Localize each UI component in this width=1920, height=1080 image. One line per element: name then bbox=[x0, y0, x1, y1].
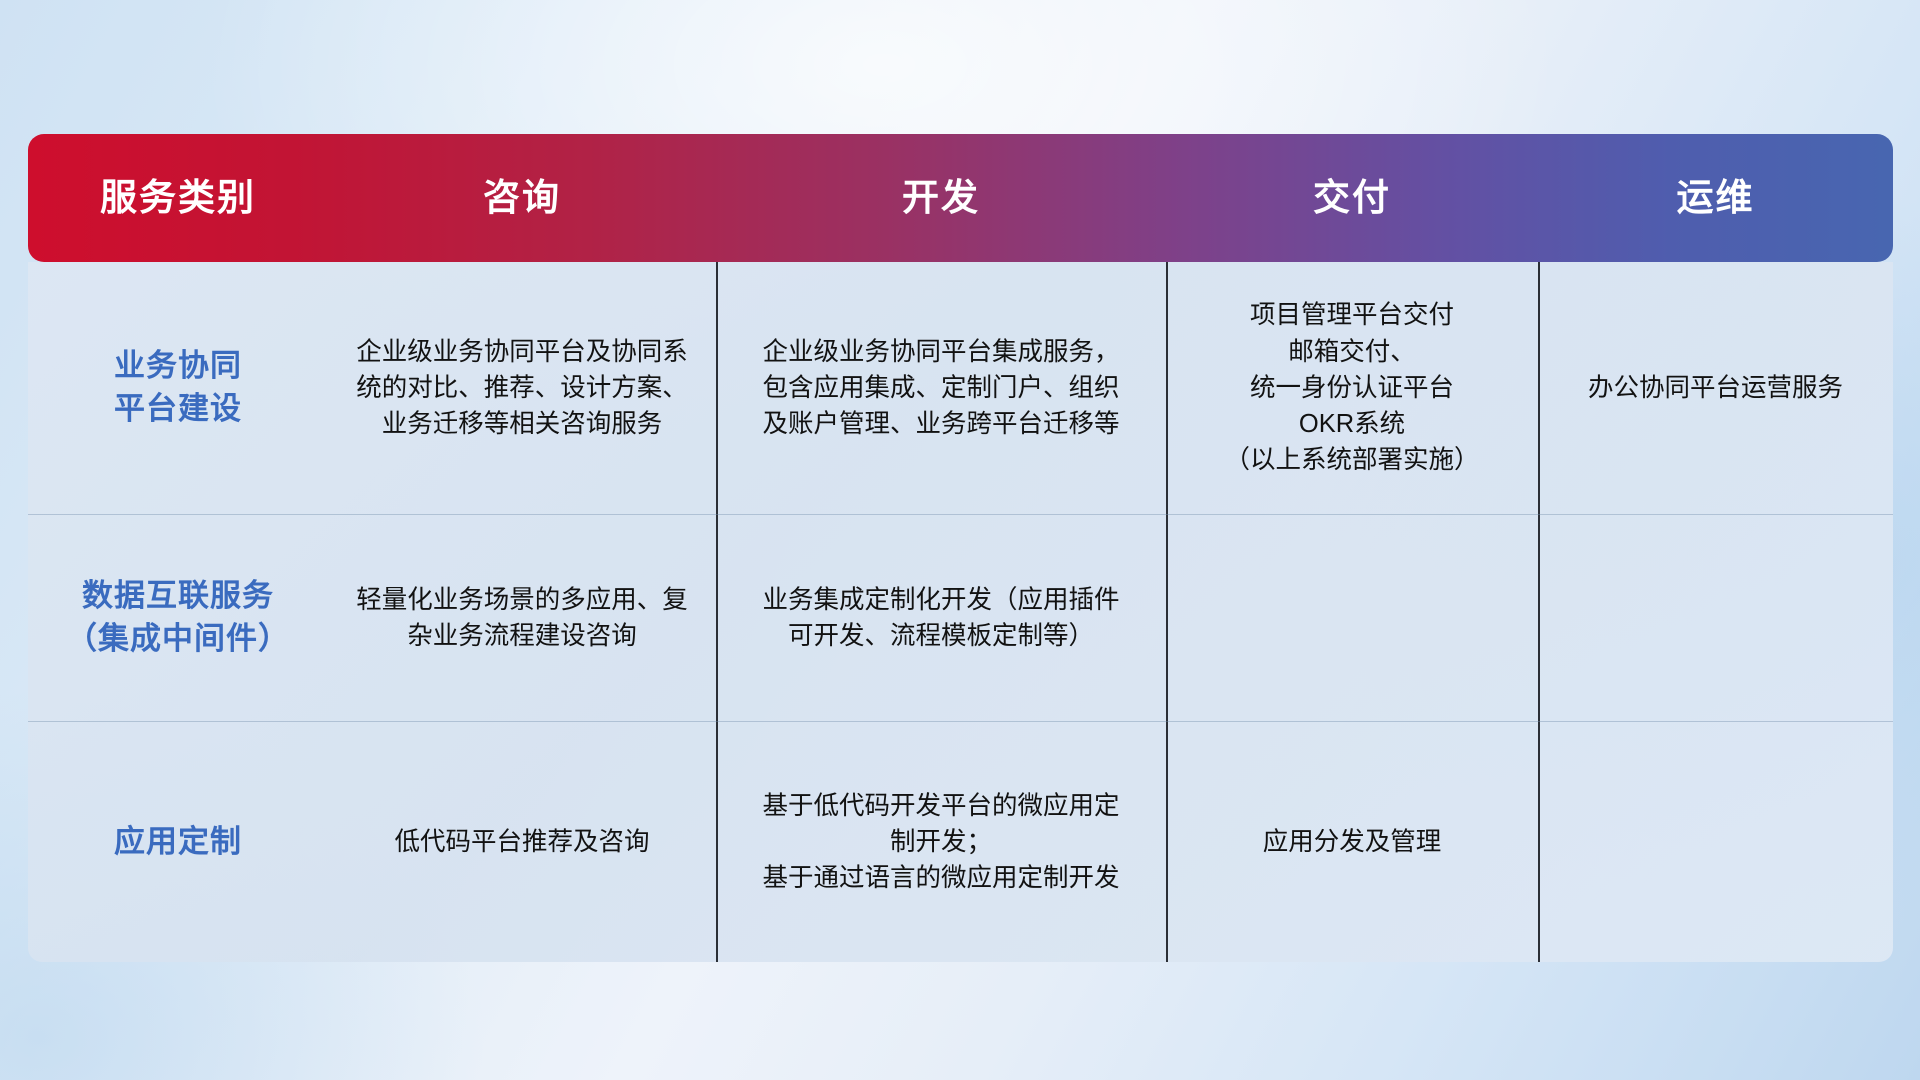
column-header-consulting: 咨询 bbox=[328, 134, 716, 262]
column-header-delivery-label: 交付 bbox=[1313, 178, 1391, 219]
table-body: 业务协同 平台建设 企业级业务协同平台及协同系 统的对比、推荐、设计方案、 业务… bbox=[28, 262, 1893, 962]
table-row: 业务协同 平台建设 企业级业务协同平台及协同系 统的对比、推荐、设计方案、 业务… bbox=[28, 262, 1893, 514]
cell-row1-delivery: 项目管理平台交付 邮箱交付、 统一身份认证平台 OKR系统 （以上系统部署实施） bbox=[1166, 262, 1538, 514]
column-header-delivery: 交付 bbox=[1166, 134, 1538, 262]
column-header-category: 服务类别 bbox=[28, 134, 328, 262]
row-label-app-customization: 应用定制 bbox=[28, 722, 328, 962]
cell-row3-consulting: 低代码平台推荐及咨询 bbox=[328, 722, 716, 962]
column-header-consulting-label: 咨询 bbox=[483, 178, 561, 219]
cell-row3-delivery: 应用分发及管理 bbox=[1166, 722, 1538, 962]
cell-row1-development: 企业级业务协同平台集成服务， 包含应用集成、定制门户、组织 及账户管理、业务跨平… bbox=[716, 262, 1166, 514]
cell-row1-consulting: 企业级业务协同平台及协同系 统的对比、推荐、设计方案、 业务迁移等相关咨询服务 bbox=[328, 262, 716, 514]
cell-row3-development: 基于低代码开发平台的微应用定 制开发； 基于通过语言的微应用定制开发 bbox=[716, 722, 1166, 962]
column-header-development-label: 开发 bbox=[902, 178, 980, 219]
row-label-data-interconnect: 数据互联服务 （集成中间件） bbox=[28, 515, 328, 721]
row-label-business-collaboration: 业务协同 平台建设 bbox=[28, 262, 328, 514]
service-matrix-table: 服务类别 咨询 开发 交付 运维 业务协同 平台建设 企业级业务协同平台及协同系… bbox=[28, 134, 1893, 962]
cell-row2-development: 业务集成定制化开发（应用插件 可开发、流程模板定制等） bbox=[716, 515, 1166, 721]
table-row: 应用定制 低代码平台推荐及咨询 基于低代码开发平台的微应用定 制开发； 基于通过… bbox=[28, 721, 1893, 962]
cell-row3-operations bbox=[1538, 722, 1893, 962]
table-row: 数据互联服务 （集成中间件） 轻量化业务场景的多应用、复 杂业务流程建设咨询 业… bbox=[28, 514, 1893, 721]
cell-row2-operations bbox=[1538, 515, 1893, 721]
column-header-operations-label: 运维 bbox=[1677, 178, 1755, 219]
cell-row2-delivery bbox=[1166, 515, 1538, 721]
cell-row1-operations: 办公协同平台运营服务 bbox=[1538, 262, 1893, 514]
cell-row2-consulting: 轻量化业务场景的多应用、复 杂业务流程建设咨询 bbox=[328, 515, 716, 721]
table-header-row: 服务类别 咨询 开发 交付 运维 bbox=[28, 134, 1893, 262]
column-header-operations: 运维 bbox=[1538, 134, 1893, 262]
column-header-category-label: 服务类别 bbox=[100, 178, 256, 219]
column-header-development: 开发 bbox=[716, 134, 1166, 262]
